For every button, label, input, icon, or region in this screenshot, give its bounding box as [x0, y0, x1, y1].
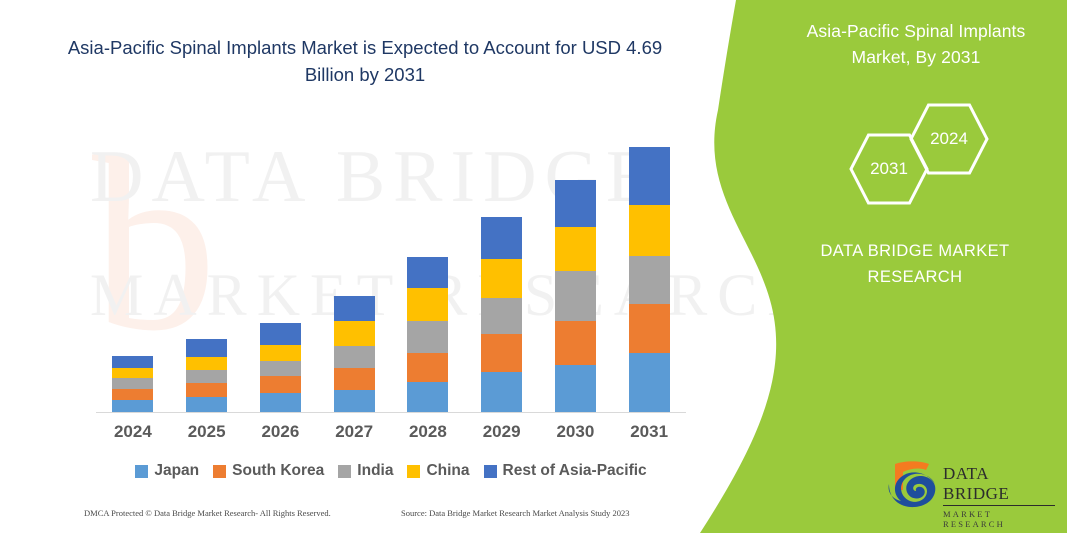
bar-segment-south-korea[interactable] [555, 321, 596, 366]
legend-swatch-icon [407, 465, 420, 478]
bar-segment-china[interactable] [112, 368, 153, 378]
chart-plot-area [96, 110, 686, 413]
bar-segment-china[interactable] [186, 357, 227, 371]
bar-segment-south-korea[interactable] [112, 389, 153, 400]
bar-slot [391, 110, 465, 412]
hexagon-2024: 2024 [908, 102, 990, 176]
x-axis-label: 2030 [539, 422, 613, 442]
hexagon-2031-label: 2031 [870, 159, 908, 179]
bar-segment-rest-of-asia-pacific[interactable] [555, 180, 596, 227]
x-axis-label: 2026 [244, 422, 318, 442]
bar-segment-japan[interactable] [481, 372, 522, 412]
x-axis-label: 2025 [170, 422, 244, 442]
legend-label: South Korea [232, 462, 324, 480]
x-axis-label: 2027 [317, 422, 391, 442]
bar-segment-south-korea[interactable] [186, 383, 227, 397]
bar-slot [317, 110, 391, 412]
legend-label: Japan [154, 462, 199, 480]
bar-segment-china[interactable] [407, 288, 448, 321]
bar-slot [465, 110, 539, 412]
bar-segment-japan[interactable] [407, 382, 448, 412]
x-axis-label: 2024 [96, 422, 170, 442]
footer-copyright: DMCA Protected © Data Bridge Market Rese… [84, 508, 331, 518]
bar-slot [612, 110, 686, 412]
bar-segment-india[interactable] [555, 271, 596, 321]
bar-segment-china[interactable] [555, 227, 596, 272]
bar-segment-china[interactable] [334, 321, 375, 346]
legend-label: China [426, 462, 469, 480]
bar-segment-india[interactable] [186, 370, 227, 383]
bar-segment-india[interactable] [260, 361, 301, 377]
footer-source: Source: Data Bridge Market Research Mark… [401, 508, 630, 518]
bar-segment-china[interactable] [260, 345, 301, 361]
bar-segment-india[interactable] [629, 256, 670, 305]
legend-label: Rest of Asia-Pacific [503, 462, 647, 480]
x-axis-label: 2028 [391, 422, 465, 442]
bar-segment-rest-of-asia-pacific[interactable] [260, 323, 301, 345]
panel-title: Asia-Pacific Spinal Implants Market, By … [785, 18, 1047, 70]
bar-segment-south-korea[interactable] [260, 376, 301, 393]
bar-segment-india[interactable] [481, 298, 522, 334]
bar-segment-south-korea[interactable] [481, 334, 522, 373]
bar-segment-japan[interactable] [260, 393, 301, 412]
x-axis-labels: 20242025202620272028202920302031 [96, 422, 686, 442]
legend-item-rest-of-asia-pacific[interactable]: Rest of Asia-Pacific [484, 462, 647, 480]
logo-tagline: MARKET RESEARCH [943, 509, 1055, 529]
bar-segment-rest-of-asia-pacific[interactable] [334, 296, 375, 321]
bar-segment-rest-of-asia-pacific[interactable] [186, 339, 227, 357]
bar-segment-india[interactable] [334, 346, 375, 369]
stacked-bar[interactable] [629, 147, 670, 412]
stacked-bar[interactable] [260, 323, 301, 412]
legend-swatch-icon [338, 465, 351, 478]
bar-segment-china[interactable] [629, 205, 670, 255]
bar-segment-rest-of-asia-pacific[interactable] [481, 217, 522, 259]
hexagon-group: 2031 2024 [820, 100, 1050, 210]
bar-segment-rest-of-asia-pacific[interactable] [407, 257, 448, 289]
brand-name: DATA BRIDGE MARKET RESEARCH [790, 238, 1040, 290]
stacked-bar[interactable] [186, 339, 227, 412]
bar-slot [244, 110, 318, 412]
green-panel-content: Asia-Pacific Spinal Implants Market, By … [760, 0, 1067, 533]
legend-item-china[interactable]: China [407, 462, 469, 480]
bar-segment-japan[interactable] [629, 353, 670, 412]
legend-label: India [357, 462, 393, 480]
stacked-bar[interactable] [481, 217, 522, 412]
x-axis-line [96, 412, 686, 413]
stacked-bar[interactable] [112, 356, 153, 412]
stacked-bar[interactable] [407, 257, 448, 412]
legend-item-india[interactable]: India [338, 462, 393, 480]
bar-segment-japan[interactable] [186, 397, 227, 412]
bar-segment-rest-of-asia-pacific[interactable] [112, 356, 153, 369]
bar-segment-rest-of-asia-pacific[interactable] [629, 147, 670, 205]
bar-slot [539, 110, 613, 412]
x-axis-label: 2029 [465, 422, 539, 442]
legend-item-south-korea[interactable]: South Korea [213, 462, 324, 480]
legend-swatch-icon [484, 465, 497, 478]
stacked-bar[interactable] [555, 180, 596, 412]
databridge-b-icon [885, 460, 943, 508]
bar-group [96, 110, 686, 412]
legend-item-japan[interactable]: Japan [135, 462, 199, 480]
bar-segment-japan[interactable] [334, 390, 375, 412]
company-logo: DATA BRIDGE MARKET RESEARCH [885, 460, 1055, 508]
legend-swatch-icon [135, 465, 148, 478]
infographic-canvas: b DATA BRIDGE MARKET RESEARCH Asia-Pacif… [0, 0, 1067, 533]
bar-segment-india[interactable] [112, 378, 153, 389]
bar-segment-china[interactable] [481, 259, 522, 299]
bar-slot [170, 110, 244, 412]
bar-segment-india[interactable] [407, 321, 448, 353]
chart-title: Asia-Pacific Spinal Implants Market is E… [60, 34, 670, 88]
stacked-bar[interactable] [334, 296, 375, 412]
hexagon-2024-label: 2024 [930, 129, 968, 149]
bar-segment-south-korea[interactable] [407, 353, 448, 383]
bar-segment-south-korea[interactable] [629, 304, 670, 353]
legend-swatch-icon [213, 465, 226, 478]
bar-slot [96, 110, 170, 412]
bar-segment-japan[interactable] [555, 365, 596, 412]
bar-segment-south-korea[interactable] [334, 368, 375, 390]
x-axis-label: 2031 [612, 422, 686, 442]
bar-segment-japan[interactable] [112, 400, 153, 412]
logo-text-block: DATA BRIDGE MARKET RESEARCH [943, 464, 1055, 529]
logo-name: DATA BRIDGE [943, 464, 1055, 506]
chart-legend: JapanSouth KoreaIndiaChinaRest of Asia-P… [96, 462, 686, 480]
